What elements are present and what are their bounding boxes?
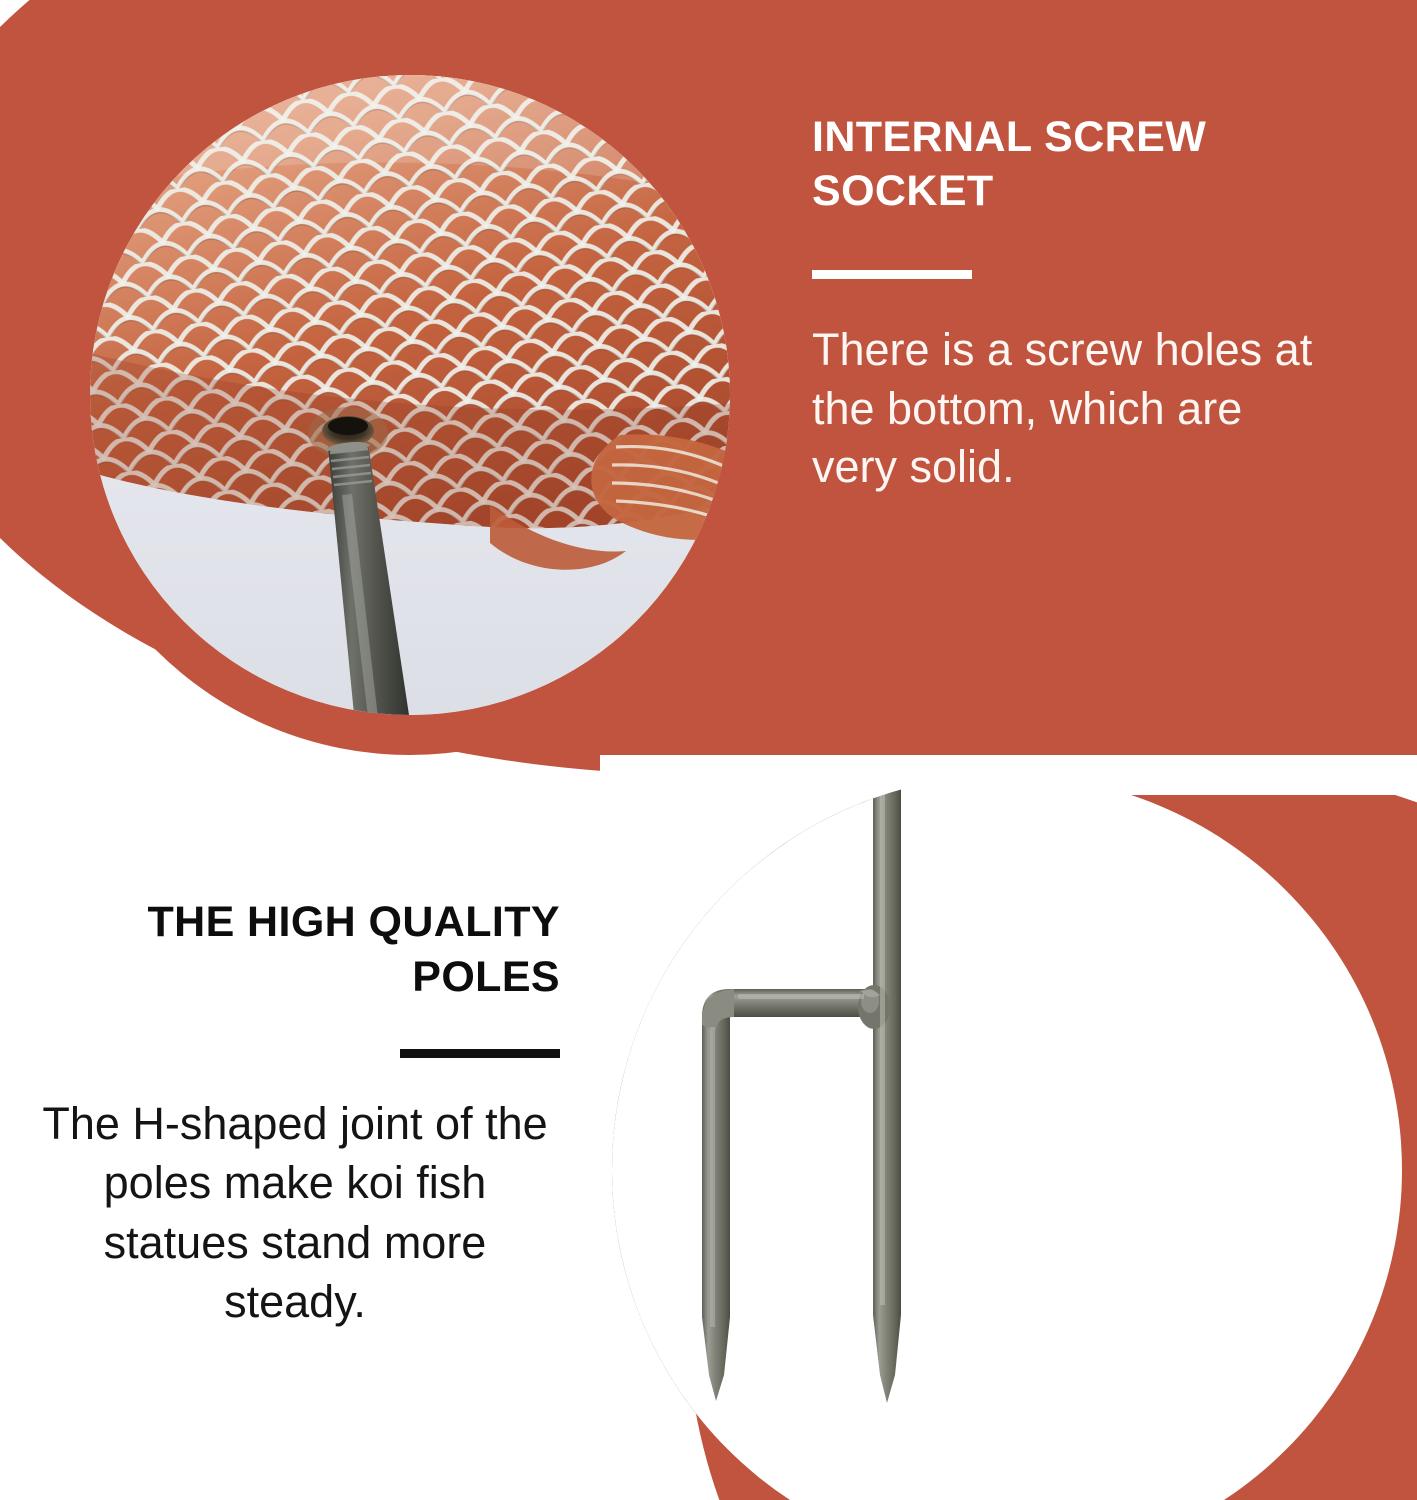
white-divider-rule <box>812 270 972 279</box>
infographic-canvas: INTERNAL SCREW SOCKET There is a screw h… <box>0 0 1417 1500</box>
high-quality-poles-heading: THE HIGH QUALITY POLES <box>30 895 560 1005</box>
internal-screw-socket-text: INTERNAL SCREW SOCKET There is a screw h… <box>812 110 1332 497</box>
screw-socket-photo <box>90 75 730 715</box>
high-quality-poles-text: THE HIGH QUALITY POLES The H-shaped join… <box>30 895 560 1332</box>
high-quality-poles-body: The H-shaped joint of the poles make koi… <box>30 1094 560 1332</box>
black-divider-rule <box>400 1049 560 1058</box>
internal-screw-socket-body: There is a screw holes at the bottom, wh… <box>812 321 1332 497</box>
screw-socket-photo-frame <box>50 35 770 755</box>
internal-screw-socket-heading: INTERNAL SCREW SOCKET <box>812 110 1332 218</box>
koi-fish-scales-photo <box>90 75 730 715</box>
